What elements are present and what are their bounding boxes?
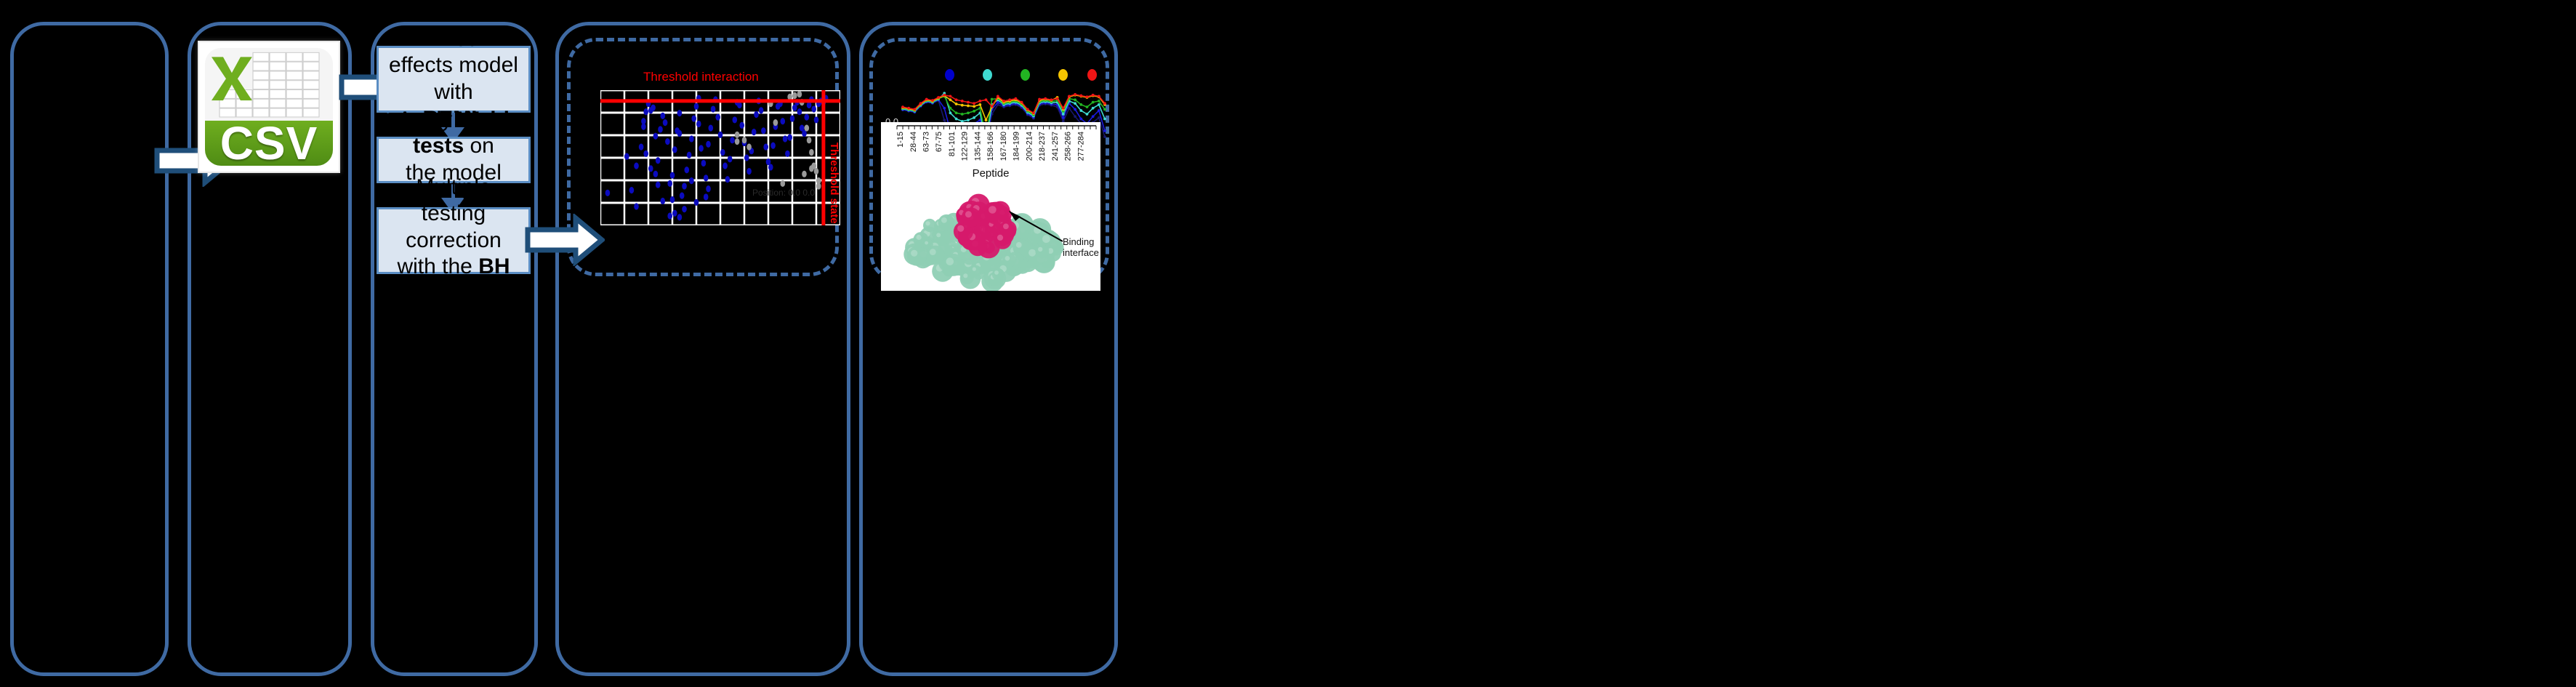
panel-input	[10, 22, 169, 676]
legend-dot-blue[interactable]	[945, 69, 954, 81]
arrow-model-to-scatter	[525, 214, 605, 266]
binding-interface-leader	[1006, 209, 1067, 246]
step-fit-model[interactable]: Fit a linear mixed-effects model withREM…	[377, 46, 531, 113]
scatter-plot	[600, 90, 840, 225]
step-multiple-testing-text: Multiple testingcorrectionwith the BH pr…	[379, 172, 528, 310]
threshold-interaction-label: Threshold interaction	[643, 70, 759, 84]
peptide-axis-labels: 1-1528-4463-7367-7581-101122-129135-1441…	[881, 122, 1100, 166]
svg-text:135-144: 135-144	[973, 132, 982, 161]
svg-text:218-237: 218-237	[1038, 132, 1047, 161]
svg-text:241-257: 241-257	[1051, 132, 1060, 161]
svg-text:200-214: 200-214	[1025, 132, 1034, 161]
svg-text:167-180: 167-180	[999, 132, 1008, 161]
legend-dot-cyan[interactable]	[983, 69, 992, 81]
csv-extension-band: CSV	[205, 121, 333, 166]
peptide-axis-title: Peptide	[881, 167, 1100, 180]
svg-text:1-15: 1-15	[896, 132, 905, 148]
csv-file-icon: CSV	[205, 48, 333, 166]
legend-dot-yellow[interactable]	[1058, 69, 1068, 81]
binding-interface-label-line2: interface	[1063, 248, 1099, 259]
binding-interface-label: Binding interface	[1063, 237, 1099, 258]
binding-interface-label-line1: Binding	[1063, 237, 1099, 248]
peptide-result-card: 1-1528-4463-7367-7581-101122-129135-1441…	[881, 122, 1100, 291]
svg-text:122-129: 122-129	[961, 132, 970, 161]
legend-dot-red[interactable]	[1087, 69, 1097, 81]
svg-text:258-266: 258-266	[1064, 132, 1073, 161]
excel-x-icon	[210, 52, 254, 106]
csv-extension-label: CSV	[220, 116, 318, 166]
diagram-canvas: CSV Fit a linear mixed-effects model wit…	[0, 0, 2576, 687]
svg-text:158-166: 158-166	[986, 132, 995, 161]
scatter-overlay-text: Position: 0.0 0.0	[752, 188, 815, 198]
svg-text:28-44: 28-44	[909, 132, 918, 152]
svg-text:277-284: 277-284	[1076, 132, 1085, 161]
svg-text:184-199: 184-199	[1013, 132, 1021, 161]
step-multiple-testing[interactable]: Multiple testingcorrectionwith the BH pr…	[377, 207, 531, 274]
threshold-state-label: Threshold state	[828, 142, 840, 224]
svg-text:63-73: 63-73	[922, 132, 931, 152]
csv-file-card: CSV	[198, 41, 340, 173]
svg-text:67-75: 67-75	[935, 132, 943, 152]
svg-text:81-101: 81-101	[948, 132, 957, 156]
legend-dot-green[interactable]	[1021, 69, 1030, 81]
